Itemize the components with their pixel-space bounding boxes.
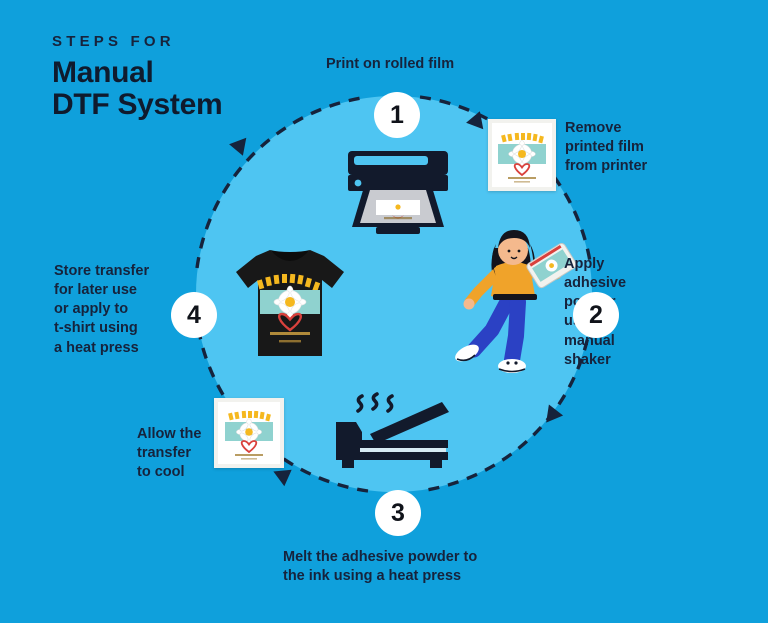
title-line-2: DTF System: [52, 89, 222, 121]
step-caption-3: Melt the adhesive powder to the ink usin…: [283, 548, 477, 586]
infographic-canvas: STEPS FOR Manual DTF System: [0, 0, 768, 623]
title-kicker: STEPS FOR: [52, 34, 222, 51]
person-with-shaker-icon: [452, 218, 582, 378]
title-line-1: Manual: [52, 57, 222, 89]
step-badge-4[interactable]: 4: [171, 292, 217, 338]
step-badge-1[interactable]: 1: [374, 92, 420, 138]
arrowhead-4: [229, 132, 253, 156]
tshirt-icon: [232, 242, 348, 362]
annotation-remove-film: Remove printed film from printer: [565, 119, 647, 176]
annotation-allow-cool: Allow the transfer to cool: [137, 425, 201, 482]
printed-film-bottom: [214, 398, 284, 468]
page-title: STEPS FOR Manual DTF System: [52, 34, 222, 121]
printed-film-top: [488, 119, 556, 191]
heat-press-icon: [330, 392, 460, 474]
step-badge-2[interactable]: 2: [573, 292, 619, 338]
step-caption-1: Print on rolled film: [326, 55, 454, 74]
printer-icon: [340, 145, 456, 237]
step-badge-3[interactable]: 3: [375, 490, 421, 536]
film-artwork-top: [492, 123, 552, 187]
film-artwork-bottom: [218, 402, 280, 464]
step-caption-4: Store transfer for later use or apply to…: [54, 262, 149, 358]
